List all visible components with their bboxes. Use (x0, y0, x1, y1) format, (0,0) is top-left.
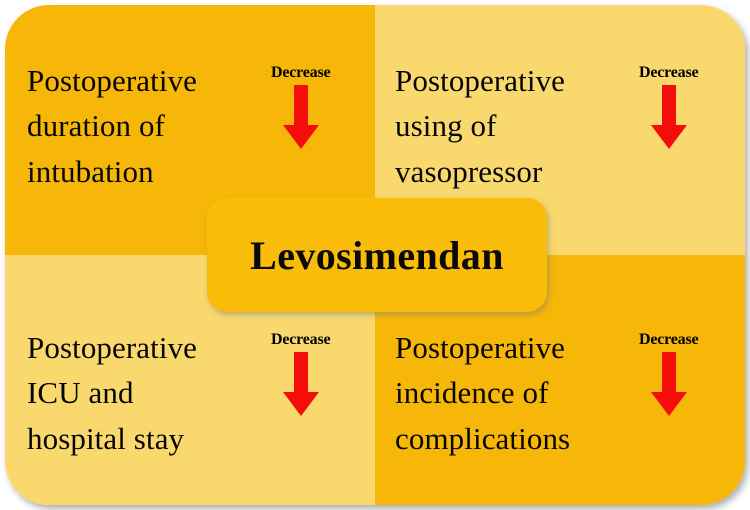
text-line: incidence of (395, 370, 635, 416)
red-down-arrow-icon (283, 85, 319, 149)
center-node-levosimendan: Levosimendan (207, 198, 547, 312)
text-line: complications (395, 416, 635, 462)
decrease-label: Decrease (639, 64, 698, 82)
text-line: duration of (27, 103, 267, 149)
levosimendan-effects-diagram: Postoperative duration of intubation Dec… (0, 0, 750, 510)
quadrant-top-right-text: Postoperative using of vasopressor (395, 58, 635, 195)
center-node-label: Levosimendan (250, 232, 504, 279)
text-line: Postoperative (395, 325, 635, 371)
decrease-label: Decrease (639, 331, 698, 349)
text-line: ICU and (27, 370, 267, 416)
red-down-arrow-icon (651, 352, 687, 416)
decrease-label: Decrease (271, 64, 330, 82)
decrease-indicator-top-left: Decrease (271, 58, 330, 149)
text-line: using of (395, 103, 635, 149)
decrease-indicator-bottom-left: Decrease (271, 325, 330, 416)
red-down-arrow-icon (283, 352, 319, 416)
decrease-indicator-top-right: Decrease (639, 58, 698, 149)
quadrant-bottom-right-text: Postoperative incidence of complications (395, 325, 635, 462)
text-line: Postoperative (395, 58, 635, 104)
text-line: hospital stay (27, 416, 267, 462)
quadrant-bottom-left-text: Postoperative ICU and hospital stay (27, 325, 267, 462)
text-line: Postoperative (27, 325, 267, 371)
decrease-label: Decrease (271, 331, 330, 349)
decrease-indicator-bottom-right: Decrease (639, 325, 698, 416)
red-down-arrow-icon (651, 85, 687, 149)
quadrant-top-left-text: Postoperative duration of intubation (27, 58, 267, 195)
text-line: Postoperative (27, 58, 267, 104)
text-line: vasopressor (395, 149, 635, 195)
text-line: intubation (27, 149, 267, 195)
